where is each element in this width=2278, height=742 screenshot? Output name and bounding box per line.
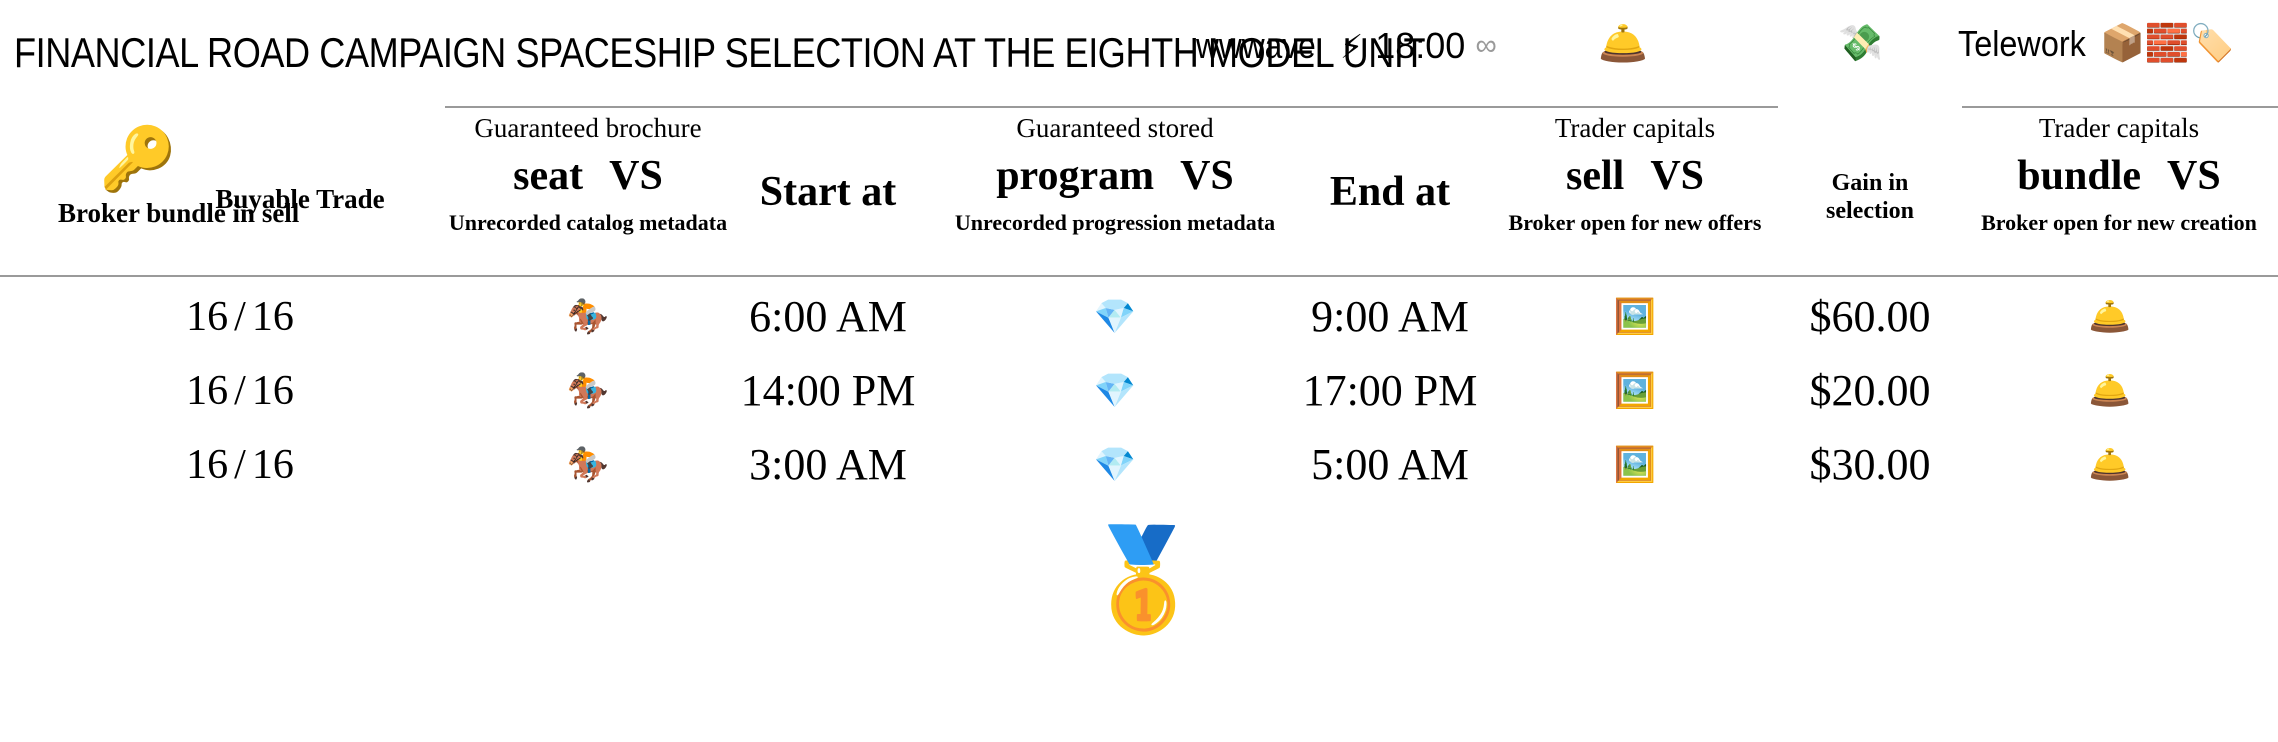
telework-label: Telework: [1958, 26, 2086, 62]
bundle-label: bundle: [2017, 153, 2141, 199]
cell-slots: 16/16: [150, 428, 330, 502]
money-with-wings-icon: 💸: [1838, 26, 1883, 62]
bellhop-bell-icon[interactable]: 🛎️: [2030, 354, 2190, 428]
table-row[interactable]: 16/16 🏇 14:00 PM 💎 17:00 PM 🖼️ $20.00 🛎️: [0, 354, 2278, 428]
package-icon: 📦: [2100, 26, 2145, 62]
app-header: FINANCIAL ROAD CAMPAIGN SPACESHIP SELECT…: [0, 0, 2278, 100]
slot-total: 16: [252, 368, 294, 414]
gem-stone-icon[interactable]: 💎: [1035, 354, 1195, 428]
column-header-gain-in-selection: Gain in selection: [1790, 170, 1950, 225]
column-header-end-at: End at: [1250, 168, 1530, 216]
cell-start-at: 3:00 AM: [688, 428, 968, 502]
bellhop-bell-icon: 🛎️: [1598, 24, 1648, 64]
group-title-guaranteed-brochure: Guaranteed brochure: [448, 114, 728, 143]
horse-racing-icon[interactable]: 🏇: [508, 428, 668, 502]
first-place-medal-icon[interactable]: 🥇: [1081, 530, 1197, 630]
column-header-trader-capitals-bundle: Trader capitals bundleVS Broker open for…: [1960, 114, 2278, 234]
group-main-trader-capitals-sell: sellVS: [1490, 154, 1780, 199]
bellhop-bell-icon[interactable]: 🛎️: [2030, 280, 2190, 354]
gem-stone-icon[interactable]: 💎: [1035, 428, 1195, 502]
column-header-trader-capitals-sell: Trader capitals sellVS Broker open for n…: [1490, 114, 1780, 234]
slot-separator: /: [234, 368, 246, 414]
gain-label-line2: selection: [1790, 198, 1950, 226]
group-title-trader-capitals-sell: Trader capitals: [1490, 114, 1780, 143]
vs-label-brochure: VS: [609, 153, 663, 199]
group-main-guaranteed-brochure: seatVS: [448, 154, 728, 199]
key-icon: 🔑: [58, 128, 218, 190]
money-button[interactable]: 💸: [1838, 26, 1883, 62]
column-header-start-at: Start at: [688, 168, 968, 216]
table-row[interactable]: 16/16 🏇 6:00 AM 💎 9:00 AM 🖼️ $60.00 🛎️: [0, 280, 2278, 354]
bolt-icon: ⚡: [1340, 30, 1363, 63]
wave-status-cluster[interactable]: wwwave ⚡ 18:00 ∞: [1196, 28, 1497, 64]
gem-stone-icon[interactable]: 💎: [1035, 280, 1195, 354]
group-main-guaranteed-stored: programVS: [940, 154, 1290, 199]
cell-end-at: 9:00 AM: [1250, 280, 1530, 354]
telework-cluster[interactable]: Telework 📦 🧱 🏷️: [1958, 26, 2235, 62]
column-header-buyable-trade: Buyable Trade: [150, 184, 450, 215]
framed-picture-icon[interactable]: 🖼️: [1555, 280, 1715, 354]
infinity-icon: ∞: [1475, 31, 1496, 61]
program-label: program: [996, 153, 1154, 199]
group-title-trader-capitals-bundle: Trader capitals: [1960, 114, 2278, 143]
gain-label-line1: Gain in: [1790, 170, 1950, 198]
slot-used: 16: [186, 294, 228, 340]
bricks-icon: 🧱: [2145, 26, 2190, 62]
slot-used: 16: [186, 368, 228, 414]
horse-racing-icon[interactable]: 🏇: [508, 354, 668, 428]
table-body: 16/16 🏇 6:00 AM 💎 9:00 AM 🖼️ $60.00 🛎️ 1…: [0, 275, 2278, 525]
sell-label: sell: [1566, 153, 1624, 199]
group-sub-trader-capitals-bundle: Broker open for new creation: [1960, 211, 2278, 234]
seat-label: seat: [513, 153, 583, 199]
wave-timer: 18:00: [1375, 28, 1465, 64]
cell-start-at: 6:00 AM: [688, 280, 968, 354]
cell-gain: $30.00: [1790, 428, 1950, 502]
slot-separator: /: [234, 294, 246, 340]
group-sub-guaranteed-brochure: Unrecorded catalog metadata: [448, 211, 728, 234]
cell-end-at: 5:00 AM: [1250, 428, 1530, 502]
cell-gain: $60.00: [1790, 280, 1950, 354]
group-sub-trader-capitals-sell: Broker open for new offers: [1490, 211, 1780, 234]
wave-label: wwwave: [1196, 28, 1316, 64]
bell-button[interactable]: 🛎️: [1598, 24, 1648, 64]
group-title-guaranteed-stored: Guaranteed stored: [940, 114, 1290, 143]
framed-picture-icon[interactable]: 🖼️: [1555, 428, 1715, 502]
slot-total: 16: [252, 294, 294, 340]
group-sub-guaranteed-stored: Unrecorded progression metadata: [940, 211, 1290, 234]
column-header-guaranteed-stored: Guaranteed stored programVS Unrecorded p…: [940, 114, 1290, 234]
framed-picture-icon[interactable]: 🖼️: [1555, 354, 1715, 428]
slot-separator: /: [234, 442, 246, 488]
table-header: 🔑 Broker bundle in sell Buyable Trade Gu…: [0, 106, 2278, 275]
slot-total: 16: [252, 442, 294, 488]
table-row[interactable]: 16/16 🏇 3:00 AM 💎 5:00 AM 🖼️ $30.00 🛎️: [0, 428, 2278, 502]
label-tag-icon: 🏷️: [2190, 26, 2235, 62]
cell-slots: 16/16: [150, 354, 330, 428]
cell-gain: $20.00: [1790, 354, 1950, 428]
vs-label-stored: VS: [1180, 153, 1234, 199]
horse-racing-icon[interactable]: 🏇: [508, 280, 668, 354]
cell-slots: 16/16: [150, 280, 330, 354]
bellhop-bell-icon[interactable]: 🛎️: [2030, 428, 2190, 502]
slot-used: 16: [186, 442, 228, 488]
vs-label-sell: VS: [1650, 153, 1704, 199]
cell-start-at: 14:00 PM: [688, 354, 968, 428]
column-header-guaranteed-brochure: Guaranteed brochure seatVS Unrecorded ca…: [448, 114, 728, 234]
group-main-trader-capitals-bundle: bundleVS: [1960, 154, 2278, 199]
cell-end-at: 17:00 PM: [1250, 354, 1530, 428]
vs-label-bundle: VS: [2167, 153, 2221, 199]
